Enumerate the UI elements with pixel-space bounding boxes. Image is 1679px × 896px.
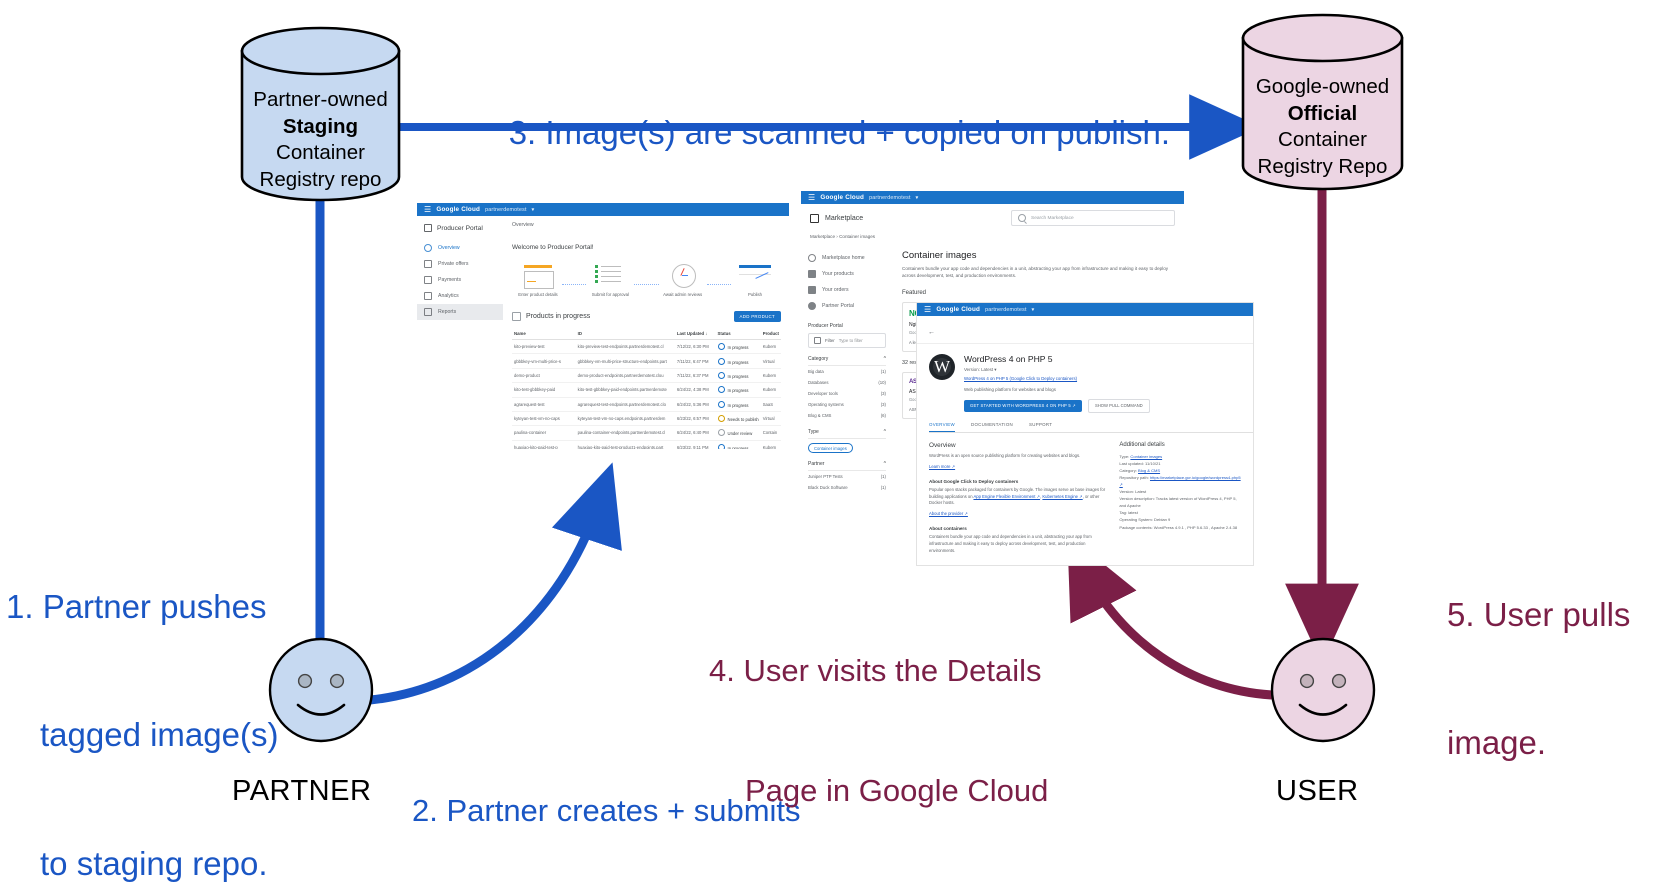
version-row: Version: Latest ▾ — [964, 367, 1150, 373]
portal-icon — [808, 302, 816, 310]
facet-row: Databases(10) — [808, 377, 886, 388]
detail-value: latest — [1128, 510, 1138, 515]
flow-step-2: Submit for approval — [588, 263, 632, 297]
status-badge: In progress — [716, 440, 761, 449]
table-cell: Kubern — [761, 440, 781, 449]
page-title: Container images — [902, 250, 1176, 261]
filter-placeholder: Type to filter — [839, 338, 863, 343]
flow-connector-1 — [562, 284, 586, 285]
tab-overview[interactable]: OVERVIEW — [929, 422, 955, 432]
table-row[interactable]: huaxiao-kito-paid-test-phuaxiao-kito-pai… — [512, 440, 781, 449]
facet-row: Operating systems(3) — [808, 399, 886, 410]
about-containers-heading: About containers — [929, 526, 1105, 531]
chevron-up-icon[interactable]: ^ — [884, 429, 886, 435]
facet-category: Category ^ Big data(1) Databases(10) Dev… — [808, 356, 886, 421]
detail-key: Category: — [1119, 468, 1138, 473]
page-description: Containers bundle your app code and depe… — [902, 265, 1176, 280]
table-row[interactable]: paulina-containerpaulina-container-endpo… — [512, 426, 781, 440]
search-placeholder: Search Marketplace — [1031, 216, 1074, 221]
chevron-up-icon[interactable]: ^ — [884, 461, 886, 467]
home-icon — [808, 254, 816, 262]
flow-connector-3 — [707, 284, 731, 285]
col-product[interactable]: Product — [761, 328, 781, 340]
product-title: WordPress 4 on PHP 5 — [964, 354, 1150, 364]
detail-row: Type: Container images — [1119, 453, 1241, 460]
products-table-body: kito-preview-testkito-preview-test-endpo… — [512, 340, 781, 450]
table-cell: huaxiao-kito-paid-test-p — [512, 440, 576, 449]
producer-topbar: ☰ Google Cloud partnerdemotest ▾ — [417, 203, 789, 216]
filter-label: Filter — [825, 338, 835, 343]
chevron-down-icon[interactable]: ▾ — [1032, 307, 1035, 313]
table-cell: kito-test-gbbbkey-paid-endpoints.partner… — [576, 383, 675, 397]
table-cell: huaxiao-kito-paid-test-product1-endpoint… — [576, 440, 675, 449]
detail-value[interactable]: Blog & CMS — [1138, 468, 1160, 473]
producer-sidebar: Producer Portal Overview Private offers … — [417, 216, 503, 449]
col-last-updated[interactable]: Last Updated ↓ — [675, 328, 716, 340]
partner-label: PARTNER — [232, 775, 371, 808]
table-cell: kyteyan-test-vm-no-caps — [512, 411, 576, 425]
card-icon — [424, 276, 432, 284]
table-cell: 7/11/22, 6:37 PM — [675, 368, 716, 382]
filter-input[interactable]: Filter Type to filter — [808, 333, 886, 348]
google-cloud-logo: Google Cloud — [436, 206, 480, 213]
facet-row: Big data(1) — [808, 366, 886, 377]
arrow-step4 — [1085, 570, 1272, 695]
table-cell: 6/24/22, 6:40 PM — [675, 426, 716, 440]
table-cell: Contain — [761, 426, 781, 440]
table-cell: 6/23/22, 9:11 PM — [675, 440, 716, 449]
facet-row: Black Duck Software(1) — [808, 482, 886, 493]
detail-row: Category: Blog & CMS — [1119, 467, 1241, 474]
chevron-down-icon[interactable]: ▾ — [532, 207, 535, 213]
tab-documentation[interactable]: DOCUMENTATION — [971, 422, 1013, 432]
detail-value: Debian 9 — [1154, 517, 1170, 522]
flow-step-3: Await admin reviews — [661, 263, 705, 297]
table-cell: kito-preview-test — [512, 340, 576, 354]
detail-key: Last updated: — [1119, 461, 1145, 466]
product-header: W WordPress 4 on PHP 5 Version: Latest ▾… — [917, 344, 1253, 413]
detail-key: Package contents: — [1119, 525, 1153, 530]
status-icon — [718, 401, 725, 408]
table-cell: agrarequest-test — [512, 397, 576, 411]
chart-icon — [424, 292, 432, 300]
table-row[interactable]: agrarequest-testagrarequest-test-endpoin… — [512, 397, 781, 411]
detail-key: Version: — [1119, 489, 1135, 494]
arrow-step2 — [370, 500, 600, 700]
table-cell: Virtual — [761, 354, 781, 368]
detail-value: WordPress 4.9.1 , PHP 5.6.33 , Apache 2.… — [1154, 525, 1237, 530]
sidebar-item-reports[interactable]: Reports — [417, 304, 503, 320]
table-cell: Kubern — [761, 340, 781, 354]
step5-label: 5. User pulls image. — [1447, 508, 1630, 851]
table-cell: Kubern — [761, 368, 781, 382]
facet-type: Type ^ Container images — [808, 429, 886, 453]
back-arrow-icon[interactable]: ← — [928, 329, 935, 336]
filter-icon — [814, 337, 821, 344]
flow-connector-2 — [634, 284, 658, 285]
additional-details-column: Additional details Type: Container image… — [1119, 442, 1241, 555]
sidebar-item-your-orders[interactable]: Your orders — [801, 282, 893, 298]
table-cell: agrarequest-test-endpoints.partnerdemote… — [576, 397, 675, 411]
tutorials-section: Tutorials and documentation Getting star… — [917, 555, 1253, 565]
table-cell: demo-product — [512, 368, 576, 382]
status-badge: In progress — [716, 383, 761, 397]
producer-app-title: Producer Portal — [417, 222, 503, 240]
overview-title: Overview — [929, 442, 1105, 449]
table-cell: Kubern — [761, 383, 781, 397]
about-provider-link[interactable]: About the provider ↗ — [929, 511, 968, 516]
source-link[interactable]: WordPress 4 on PHP 5 (Google Click to De… — [964, 376, 1150, 381]
overview-body: WordPress is an open source publishing p… — [929, 453, 1105, 460]
sidebar-item-payments[interactable]: Payments — [417, 272, 503, 288]
table-cell: kito-test-gbbbkey-paid — [512, 383, 576, 397]
producer-welcome: Welcome to Producer Portal! — [512, 244, 781, 251]
producer-flow-strip: Enter product details — [512, 263, 781, 297]
sidebar-item-overview[interactable]: Overview — [417, 240, 503, 256]
show-pull-command-button[interactable]: SHOW PULL COMMAND — [1088, 399, 1150, 413]
table-cell: 6/23/22, 6:57 PM — [675, 411, 716, 425]
table-cell: paulina-container — [512, 426, 576, 440]
detail-row: Operating System: Debian 9 — [1119, 516, 1241, 523]
learn-more-link[interactable]: Learn more ↗ — [929, 464, 955, 469]
search-icon — [1018, 214, 1026, 222]
product-details-screenshot[interactable]: ☰ Google Cloud partnerdemotest ▾ ← W Wor… — [917, 303, 1253, 565]
star-icon — [808, 270, 816, 278]
col-id[interactable]: ID — [576, 328, 675, 340]
detail-row: Last updated: 11/10/21 — [1119, 460, 1241, 467]
table-row[interactable]: kito-test-gbbbkey-paidkito-test-gbbbkey-… — [512, 383, 781, 397]
step1-label: 1. Partner pushes tagged image(s) to sta… — [6, 500, 278, 896]
detail-row: Version: Latest — [1119, 488, 1241, 495]
hamburger-icon[interactable]: ☰ — [924, 305, 931, 314]
app-engine-link[interactable]: App Engine Flexible Environment ↗ — [973, 494, 1040, 499]
status-badge: Needs to publish — [716, 411, 761, 425]
tab-support[interactable]: SUPPORT — [1029, 422, 1052, 432]
table-cell: paulina-container-endpoints.partnerdemot… — [576, 426, 675, 440]
table-cell: 7/12/22, 6:30 PM — [675, 340, 716, 354]
chevron-up-icon[interactable]: ^ — [884, 356, 886, 362]
sidebar-group-producer-portal: Producer Portal — [801, 314, 893, 333]
diagram-canvas: ☰ Google Cloud partnerdemotest ▾ Produce… — [0, 0, 1679, 896]
google-cloud-logo: Google Cloud — [936, 306, 980, 313]
detail-row: Repository path: https://marketplace.gcr… — [1119, 474, 1241, 488]
products-section-header: Products in progress ADD PRODUCT — [512, 311, 781, 322]
partner-avatar — [268, 637, 374, 743]
project-selector[interactable]: partnerdemotest — [985, 307, 1027, 313]
additional-details-list: Type: Container imagesLast updated: 11/1… — [1119, 453, 1241, 531]
status-icon — [718, 372, 725, 379]
table-cell: SaaS — [761, 397, 781, 411]
staging-repo-cylinder: Partner-owned Staging Container Registry… — [239, 25, 402, 203]
details-tabs: OVERVIEW DOCUMENTATION SUPPORT — [929, 422, 1253, 433]
detail-value: 11/10/21 — [1145, 461, 1160, 466]
facet-row: Developer tools(3) — [808, 388, 886, 399]
facet-row: Blog & CMS(6) — [808, 410, 886, 421]
flow-step-4: Publish — [733, 263, 777, 297]
table-header-row: Name ID Last Updated ↓ Status Product — [512, 328, 781, 340]
producer-portal-screenshot[interactable]: ☰ Google Cloud partnerdemotest ▾ Produce… — [417, 203, 789, 449]
offers-icon — [424, 260, 432, 268]
table-cell: Virtual — [761, 411, 781, 425]
details-topbar: ☰ Google Cloud partnerdemotest ▾ — [917, 303, 1253, 316]
table-cell: demo-product-endpoints.partnerdemotest.c… — [576, 368, 675, 382]
home-icon — [424, 244, 432, 252]
detail-key: Type: — [1119, 454, 1130, 459]
detail-value[interactable]: Container images — [1130, 454, 1162, 459]
table-cell: kyteyan-test-vm-no-caps.endpoints.partne… — [576, 411, 675, 425]
status-icon — [718, 386, 725, 393]
sidebar-item-partner-portal[interactable]: Partner Portal — [801, 298, 893, 314]
sidebar-item-your-products[interactable]: Your products — [801, 266, 893, 282]
status-badge: In progress — [716, 397, 761, 411]
col-status[interactable]: Status — [716, 328, 761, 340]
get-started-button[interactable]: GET STARTED WITH WORDPRESS 4 ON PHP 5 ↗ — [964, 400, 1082, 412]
hamburger-icon[interactable]: ☰ — [424, 205, 431, 214]
wordpress-logo: W — [929, 354, 955, 380]
marketplace-sidebar: Marketplace home Your products Your orde… — [801, 244, 893, 493]
breadcrumb[interactable]: Marketplace › Container images — [801, 226, 1184, 239]
detail-value: Latest — [1135, 489, 1146, 494]
status-icon — [718, 343, 725, 350]
store-icon — [424, 224, 432, 232]
table-cell: gbbbkey-vm-multi-price-s — [512, 354, 576, 368]
marketplace-search[interactable]: Search Marketplace — [1011, 210, 1175, 226]
products-table: Name ID Last Updated ↓ Status Product ki… — [512, 328, 781, 449]
table-row[interactable]: kyteyan-test-vm-no-capskyteyan-test-vm-n… — [512, 411, 781, 425]
sidebar-item-private-offers[interactable]: Private offers — [417, 256, 503, 272]
table-cell: 7/11/22, 6:47 PM — [675, 354, 716, 368]
facet-row: Juniper PTP Tests(1) — [808, 471, 886, 482]
detail-key: Version description: — [1119, 496, 1155, 501]
col-name[interactable]: Name — [512, 328, 576, 340]
step3-label: 3. Image(s) are scanned + copied on publ… — [472, 69, 1170, 198]
user-avatar — [1270, 637, 1376, 743]
table-cell: 6/24/22, 5:36 PM — [675, 397, 716, 411]
overview-column: Overview WordPress is an open source pub… — [929, 442, 1105, 555]
status-badge: In progress — [716, 368, 761, 382]
orders-icon — [808, 286, 816, 294]
project-selector[interactable]: partnerdemotest — [485, 207, 527, 213]
table-row[interactable]: demo-productdemo-product-endpoints.partn… — [512, 368, 781, 382]
table-cell: kito-preview-test-endpoints.partnerdemot… — [576, 340, 675, 354]
detail-key: Repository path: — [1119, 475, 1150, 480]
step4-label: 4. User visits the Details Page in Googl… — [709, 570, 1048, 896]
table-cell: gbbbkey-vm-multi-price-structure-endpoin… — [576, 354, 675, 368]
detail-row: Tag: latest — [1119, 509, 1241, 516]
detail-key: Operating System: — [1119, 517, 1154, 522]
products-icon — [512, 312, 521, 321]
user-label: USER — [1276, 775, 1359, 808]
status-badge: In progress — [716, 354, 761, 368]
official-repo-cylinder: Google-owned Official Container Registry… — [1240, 12, 1405, 192]
filter-chip-container-images[interactable]: Container images — [808, 443, 853, 453]
status-icon — [718, 415, 725, 422]
status-badge: Under review — [716, 426, 761, 440]
product-tagline: Web publishing platform for websites and… — [964, 387, 1150, 392]
download-icon — [424, 308, 432, 316]
about-containers-text: Containers bundle your app code and depe… — [929, 534, 1105, 555]
featured-label: Featured — [902, 290, 1176, 296]
status-icon — [718, 429, 725, 436]
status-icon — [718, 358, 725, 365]
about-click-heading: About Google Click to Deploy containers — [929, 479, 1105, 484]
flow-step-1: Enter product details — [516, 263, 560, 297]
sidebar-item-marketplace-home[interactable]: Marketplace home — [801, 250, 893, 266]
detail-row: Package contents: WordPress 4.9.1 , PHP … — [1119, 524, 1241, 531]
version-select[interactable]: Latest ▾ — [981, 367, 996, 372]
detail-key: Tag: — [1119, 510, 1128, 515]
table-row[interactable]: kito-preview-testkito-preview-test-endpo… — [512, 340, 781, 354]
additional-details-title: Additional details — [1119, 442, 1241, 448]
table-cell: 6/24/22, 4:38 PM — [675, 383, 716, 397]
kubernetes-engine-link[interactable]: Kubernetes Engine ↗ — [1042, 494, 1082, 499]
sidebar-item-analytics[interactable]: Analytics — [417, 288, 503, 304]
marketplace-app-title: Marketplace — [825, 215, 863, 222]
marketplace-icon — [810, 214, 819, 223]
status-badge: In progress — [716, 340, 761, 354]
status-icon — [718, 444, 725, 449]
producer-main: Overview Welcome to Producer Portal! Ent… — [503, 216, 789, 449]
add-product-button[interactable]: ADD PRODUCT — [734, 311, 782, 322]
detail-row: Version description: Tracks latest versi… — [1119, 495, 1241, 509]
table-row[interactable]: gbbbkey-vm-multi-price-sgbbbkey-vm-multi… — [512, 354, 781, 368]
facet-partner: Partner ^ Juniper PTP Tests(1) Black Duc… — [808, 461, 886, 493]
